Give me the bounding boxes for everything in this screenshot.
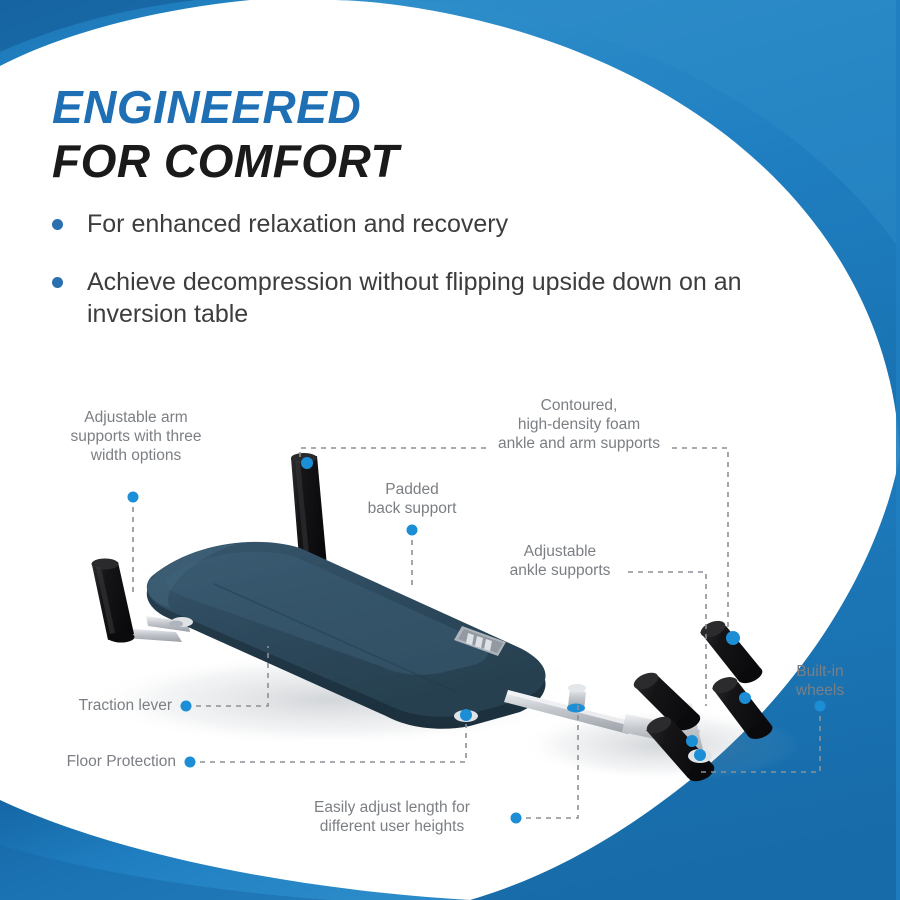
callout-traction-lever: Traction lever: [18, 696, 172, 715]
frame-top-left: [0, 0, 250, 66]
callout-adjust-length: Easily adjust length for different user …: [284, 798, 500, 836]
bullet-text: Achieve decompression without flipping u…: [87, 266, 812, 330]
left-arm-grip: [92, 559, 135, 643]
callout-floor-protection: Floor Protection: [12, 752, 176, 771]
ankle-roller-upper-far: [698, 618, 764, 687]
bullet-dot-icon: [52, 277, 63, 288]
grip-accent-dot: [301, 457, 313, 469]
callout-ankle-supports: Adjustable ankle supports: [490, 542, 630, 580]
feature-bullet-list: For enhanced relaxation and recovery Ach…: [52, 208, 812, 356]
callout-foam-supports: Contoured, high-density foam ankle and a…: [490, 396, 668, 453]
roller-accent-dot: [739, 692, 751, 704]
adjustment-knob: [567, 684, 586, 713]
headline-line-2: FOR COMFORT: [52, 134, 692, 188]
callout-back-support: Padded back support: [352, 480, 472, 518]
foot-accent-dot: [460, 709, 472, 721]
wheel-accent-dot: [694, 749, 706, 761]
roller-accent-dot: [726, 631, 740, 645]
frame-top-left-shadow: [0, 0, 196, 52]
headline-line-1: ENGINEERED: [52, 80, 692, 134]
callout-built-in-wheels: Built-in wheels: [770, 662, 870, 700]
built-in-wheel: [688, 749, 712, 763]
page-title: ENGINEERED FOR COMFORT: [52, 80, 692, 188]
list-item: For enhanced relaxation and recovery: [52, 208, 812, 240]
bullet-dot-icon: [52, 219, 63, 230]
callout-arm-supports: Adjustable arm supports with three width…: [36, 408, 236, 465]
roller-accent-dot: [686, 735, 698, 747]
knob-accent-dot: [567, 704, 585, 713]
bullet-text: For enhanced relaxation and recovery: [87, 208, 508, 240]
list-item: Achieve decompression without flipping u…: [52, 266, 812, 330]
infographic-canvas: ENGINEERED FOR COMFORT For enhanced rela…: [0, 0, 900, 900]
